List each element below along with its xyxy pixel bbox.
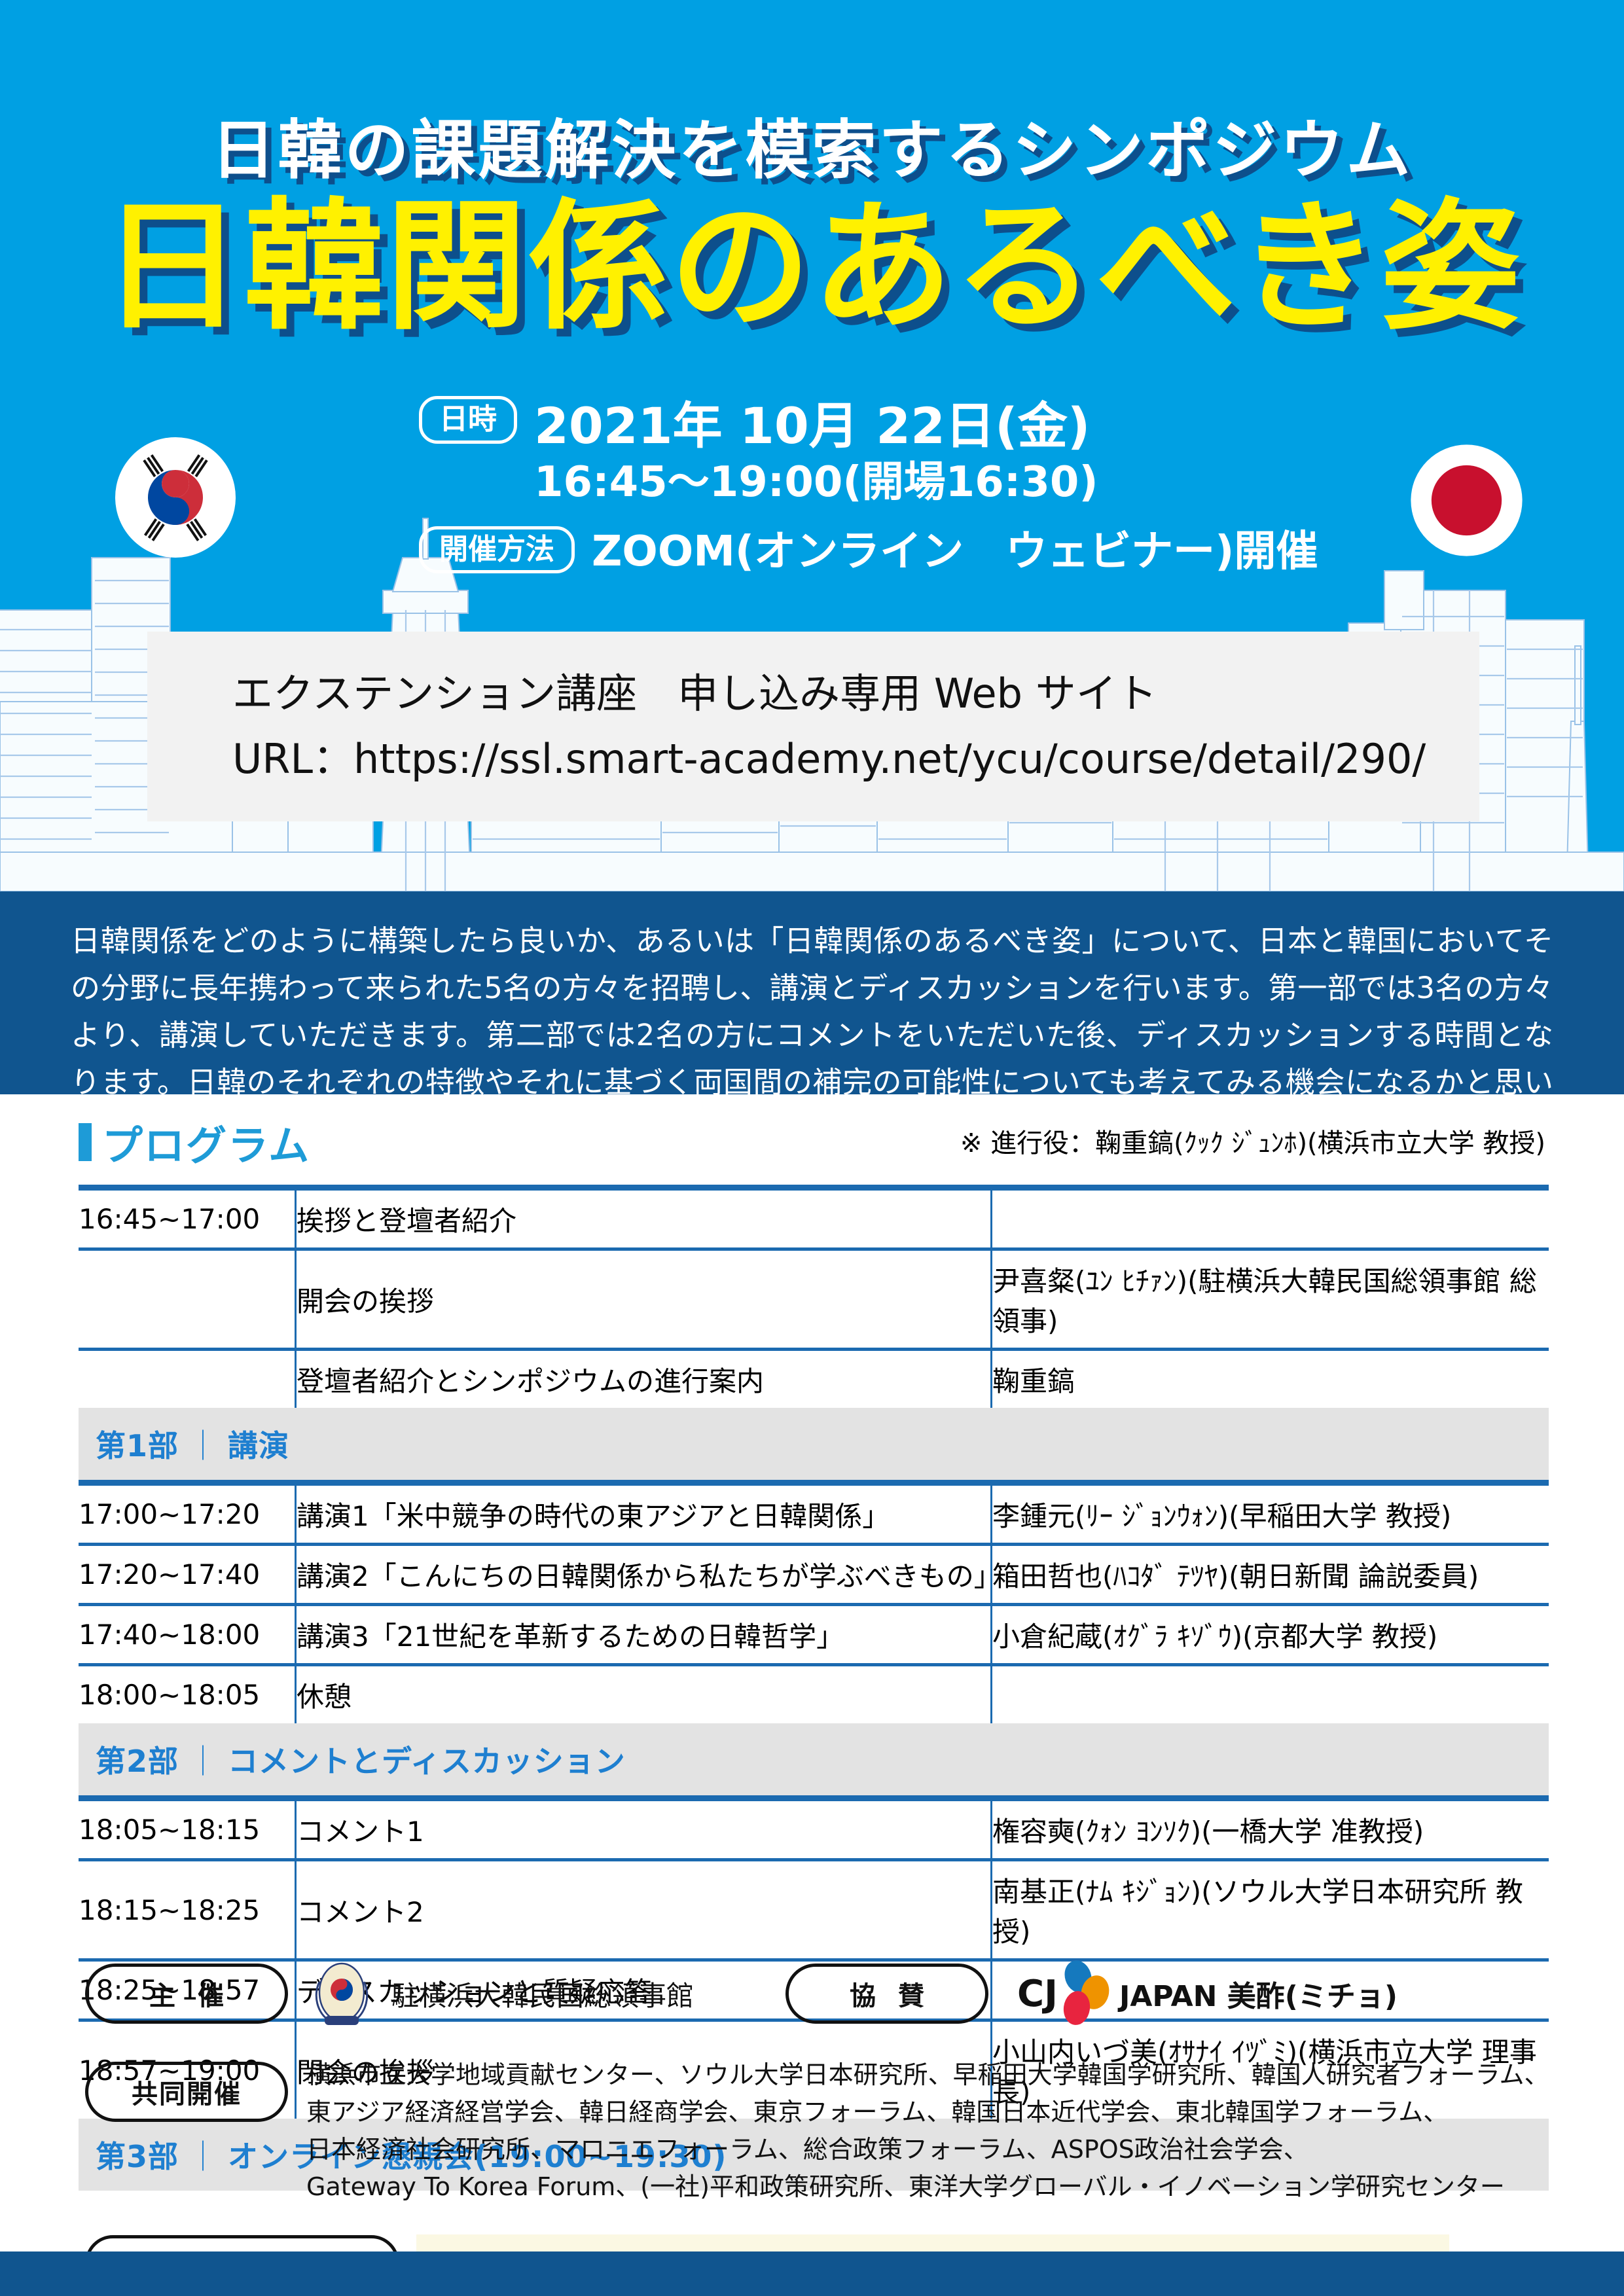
method-row: 開催方法 ZOOM(オンライン ウェビナー)開催 bbox=[419, 526, 1401, 577]
schedule-item: 講演1「米中競争の時代の東アジアと日韓関係」 bbox=[296, 1483, 992, 1545]
method-value: ZOOM(オンライン ウェビナー)開催 bbox=[592, 526, 1318, 577]
korea-consulate-emblem-icon bbox=[310, 1957, 373, 2030]
host-name: 駐横浜大韓民国総領事館 bbox=[391, 1974, 694, 2014]
section-part: 第2部 bbox=[96, 1744, 179, 1779]
schedule-section-row: 第1部｜講演 bbox=[79, 1408, 1549, 1483]
program-moderator-note: ※ 進行役：鞠重鎬(ｸｯｸ ｼﾞｭﾝﾎ)(横浜市立大学 教授) bbox=[960, 1122, 1545, 1160]
cj-blossom-icon bbox=[1054, 1960, 1114, 2028]
schedule-time: 16:45~17:00 bbox=[79, 1188, 296, 1249]
coorganizer-line: 日本経済社会研究所、マロニエフォーラム、総合政策フォーラム、ASPOS政治社会学… bbox=[306, 2131, 1549, 2168]
schedule-item: コメント1 bbox=[296, 1799, 992, 1860]
date-value: 2021年 10月 22日(金) bbox=[534, 396, 1098, 457]
schedule-speaker: 尹喜粲(ﾕﾝ ﾋﾁｧﾝ)(駐横浜大韓民国総領事館 総領事) bbox=[992, 1249, 1549, 1350]
schedule-speaker: 箱田哲也(ﾊｺﾀﾞ ﾃﾂﾔ)(朝日新聞 論説委員) bbox=[992, 1545, 1549, 1605]
footer-section: 主催 駐横浜大韓民国総領事館 協賛 CJ bbox=[0, 1957, 1624, 2291]
schedule-time bbox=[79, 1350, 296, 1408]
schedule-item: 休憩 bbox=[296, 1665, 992, 1724]
schedule-row: 18:15~18:25コメント2南基正(ﾅﾑ ｷｼﾞｮﾝ)(ソウル大学日本研究所… bbox=[79, 1860, 1549, 1960]
schedule-row: 18:05~18:15コメント1権容奭(ｸｫﾝ ﾖﾝｿｸ)(一橋大学 准教授) bbox=[79, 1799, 1549, 1860]
schedule-item: 講演2「こんにちの日韓関係から私たちが学ぶべきもの」 bbox=[296, 1545, 992, 1605]
event-kicker: 日韓の課題解決を模索するシンポジウム bbox=[0, 98, 1624, 191]
schedule-row: 16:45~17:00挨拶と登壇者紹介 bbox=[79, 1188, 1549, 1249]
sponsor-label: 協賛 bbox=[785, 1964, 988, 2024]
schedule-time: 18:15~18:25 bbox=[79, 1860, 296, 1960]
schedule-speaker bbox=[992, 1188, 1549, 1249]
coorganizer-list: 横浜市立大学地域貢献センター、ソウル大学日本研究所、早稲田大学韓国学研究所、韓国… bbox=[306, 2056, 1549, 2206]
registration-url-card[interactable]: エクステンション講座 申し込み専用 Web サイト URL：https://ss… bbox=[147, 632, 1479, 821]
schedule-speaker: 権容奭(ｸｫﾝ ﾖﾝｿｸ)(一橋大学 准教授) bbox=[992, 1799, 1549, 1860]
program-title-bar-icon bbox=[79, 1123, 92, 1161]
schedule-row: 17:20~17:40講演2「こんにちの日韓関係から私たちが学ぶべきもの」箱田哲… bbox=[79, 1545, 1549, 1605]
program-header: プログラム ※ 進行役：鞠重鎬(ｸｯｸ ｼﾞｭﾝﾎ)(横浜市立大学 教授) bbox=[79, 1113, 1545, 1175]
schedule-row: 18:00~18:05休憩 bbox=[79, 1665, 1549, 1724]
schedule-section-label: 第2部｜コメントとディスカッション bbox=[79, 1723, 1549, 1799]
schedule-time: 17:00~17:20 bbox=[79, 1483, 296, 1545]
schedule-time: 17:20~17:40 bbox=[79, 1545, 296, 1605]
schedule-item: 開会の挨拶 bbox=[296, 1249, 992, 1350]
registration-heading: エクステンション講座 申し込み専用 Web サイト bbox=[232, 661, 1479, 726]
coorganizer-line: 横浜市立大学地域貢献センター、ソウル大学日本研究所、早稲田大学韓国学研究所、韓国… bbox=[306, 2056, 1549, 2094]
section-divider-icon: ｜ bbox=[179, 1428, 228, 1463]
schedule-time bbox=[79, 1249, 296, 1350]
bottom-bar bbox=[0, 2251, 1624, 2296]
hero-section: 日韓の課題解決を模索するシンポジウム 日韓関係のあるべき姿 日時 2021年 1… bbox=[0, 0, 1624, 891]
host-label: 主催 bbox=[85, 1964, 288, 2024]
coorganizer-row: 共同開催 横浜市立大学地域貢献センター、ソウル大学日本研究所、早稲田大学韓国学研… bbox=[85, 2056, 1624, 2206]
schedule-speaker: 南基正(ﾅﾑ ｷｼﾞｮﾝ)(ソウル大学日本研究所 教授) bbox=[992, 1860, 1549, 1960]
event-meta: 日時 2021年 10月 22日(金) 16:45〜19:00(開場16:30)… bbox=[419, 396, 1401, 581]
section-title: 講演 bbox=[228, 1428, 289, 1463]
datetime-row: 日時 2021年 10月 22日(金) 16:45〜19:00(開場16:30) bbox=[419, 396, 1401, 508]
time-value: 16:45〜19:00(開場16:30) bbox=[534, 457, 1098, 508]
schedule-speaker: 李鍾元(ﾘｰ ｼﾞｮﾝｳｫﾝ)(早稲田大学 教授) bbox=[992, 1483, 1549, 1545]
schedule-speaker: 鞠重鎬 bbox=[992, 1350, 1549, 1408]
coorganizer-label: 共同開催 bbox=[85, 2062, 288, 2122]
sponsor-name: JAPAN 美酢(ミチョ) bbox=[1119, 1973, 1398, 2015]
program-title-text: プログラム bbox=[102, 1113, 310, 1172]
schedule-item: 講演3「21世紀を革新するための日韓哲学」 bbox=[296, 1605, 992, 1665]
schedule-item: コメント2 bbox=[296, 1860, 992, 1960]
method-label: 開催方法 bbox=[419, 526, 575, 574]
registration-url[interactable]: URL：https://ssl.smart-academy.net/ycu/co… bbox=[232, 726, 1479, 792]
section-divider-icon: ｜ bbox=[179, 1744, 228, 1779]
datetime-label: 日時 bbox=[419, 396, 517, 444]
japan-flag-balloon-icon bbox=[1406, 440, 1527, 561]
schedule-time: 17:40~18:00 bbox=[79, 1605, 296, 1665]
schedule-row: 開会の挨拶尹喜粲(ﾕﾝ ﾋﾁｧﾝ)(駐横浜大韓民国総領事館 総領事) bbox=[79, 1249, 1549, 1350]
sponsor-group: 協賛 CJ JAPAN 美酢(ミチョ) bbox=[785, 1960, 1398, 2028]
schedule-item: 登壇者紹介とシンポジウムの進行案内 bbox=[296, 1350, 992, 1408]
schedule-speaker bbox=[992, 1665, 1549, 1724]
schedule-row: 17:00~17:20講演1「米中競争の時代の東アジアと日韓関係」李鍾元(ﾘｰ … bbox=[79, 1483, 1549, 1545]
coorganizer-line: Gateway To Korea Forum、(一社)平和政策研究所、東洋大学グ… bbox=[306, 2168, 1549, 2206]
description-band: 日韓関係をどのように構築したら良いか、あるいは「日韓関係のあるべき姿」について、… bbox=[0, 891, 1624, 1094]
section-title: コメントとディスカッション bbox=[228, 1744, 626, 1779]
schedule-time: 18:00~18:05 bbox=[79, 1665, 296, 1724]
datetime-values: 2021年 10月 22日(金) 16:45〜19:00(開場16:30) bbox=[534, 396, 1098, 508]
host-sponsor-row: 主催 駐横浜大韓民国総領事館 協賛 CJ bbox=[85, 1957, 1624, 2030]
schedule-item: 挨拶と登壇者紹介 bbox=[296, 1188, 992, 1249]
program-title: プログラム bbox=[79, 1113, 310, 1172]
cj-wordmark: CJ bbox=[1017, 1973, 1058, 2015]
poster-root: 日韓の課題解決を模索するシンポジウム 日韓関係のあるべき姿 日時 2021年 1… bbox=[0, 0, 1624, 2296]
schedule-speaker: 小倉紀蔵(ｵｸﾞﾗ ｷｿﾞｳ)(京都大学 教授) bbox=[992, 1605, 1549, 1665]
schedule-section-label: 第1部｜講演 bbox=[79, 1408, 1549, 1483]
section-part: 第1部 bbox=[96, 1428, 179, 1463]
event-title: 日韓関係のあるべき姿 bbox=[0, 190, 1624, 345]
schedule-row: 17:40~18:00講演3「21世紀を革新するための日韓哲学」小倉紀蔵(ｵｸﾞ… bbox=[79, 1605, 1549, 1665]
coorganizer-line: 東アジア経済経営学会、韓日経商学会、東京フォーラム、韓国日本近代学会、東北韓国学… bbox=[306, 2094, 1549, 2131]
schedule-time: 18:05~18:15 bbox=[79, 1799, 296, 1860]
cj-logo: CJ JAPAN 美酢(ミチョ) bbox=[1012, 1960, 1398, 2028]
korea-flag-balloon-icon bbox=[110, 432, 241, 563]
schedule-row: 登壇者紹介とシンポジウムの進行案内鞠重鎬 bbox=[79, 1350, 1549, 1408]
schedule-section-row: 第2部｜コメントとディスカッション bbox=[79, 1723, 1549, 1799]
